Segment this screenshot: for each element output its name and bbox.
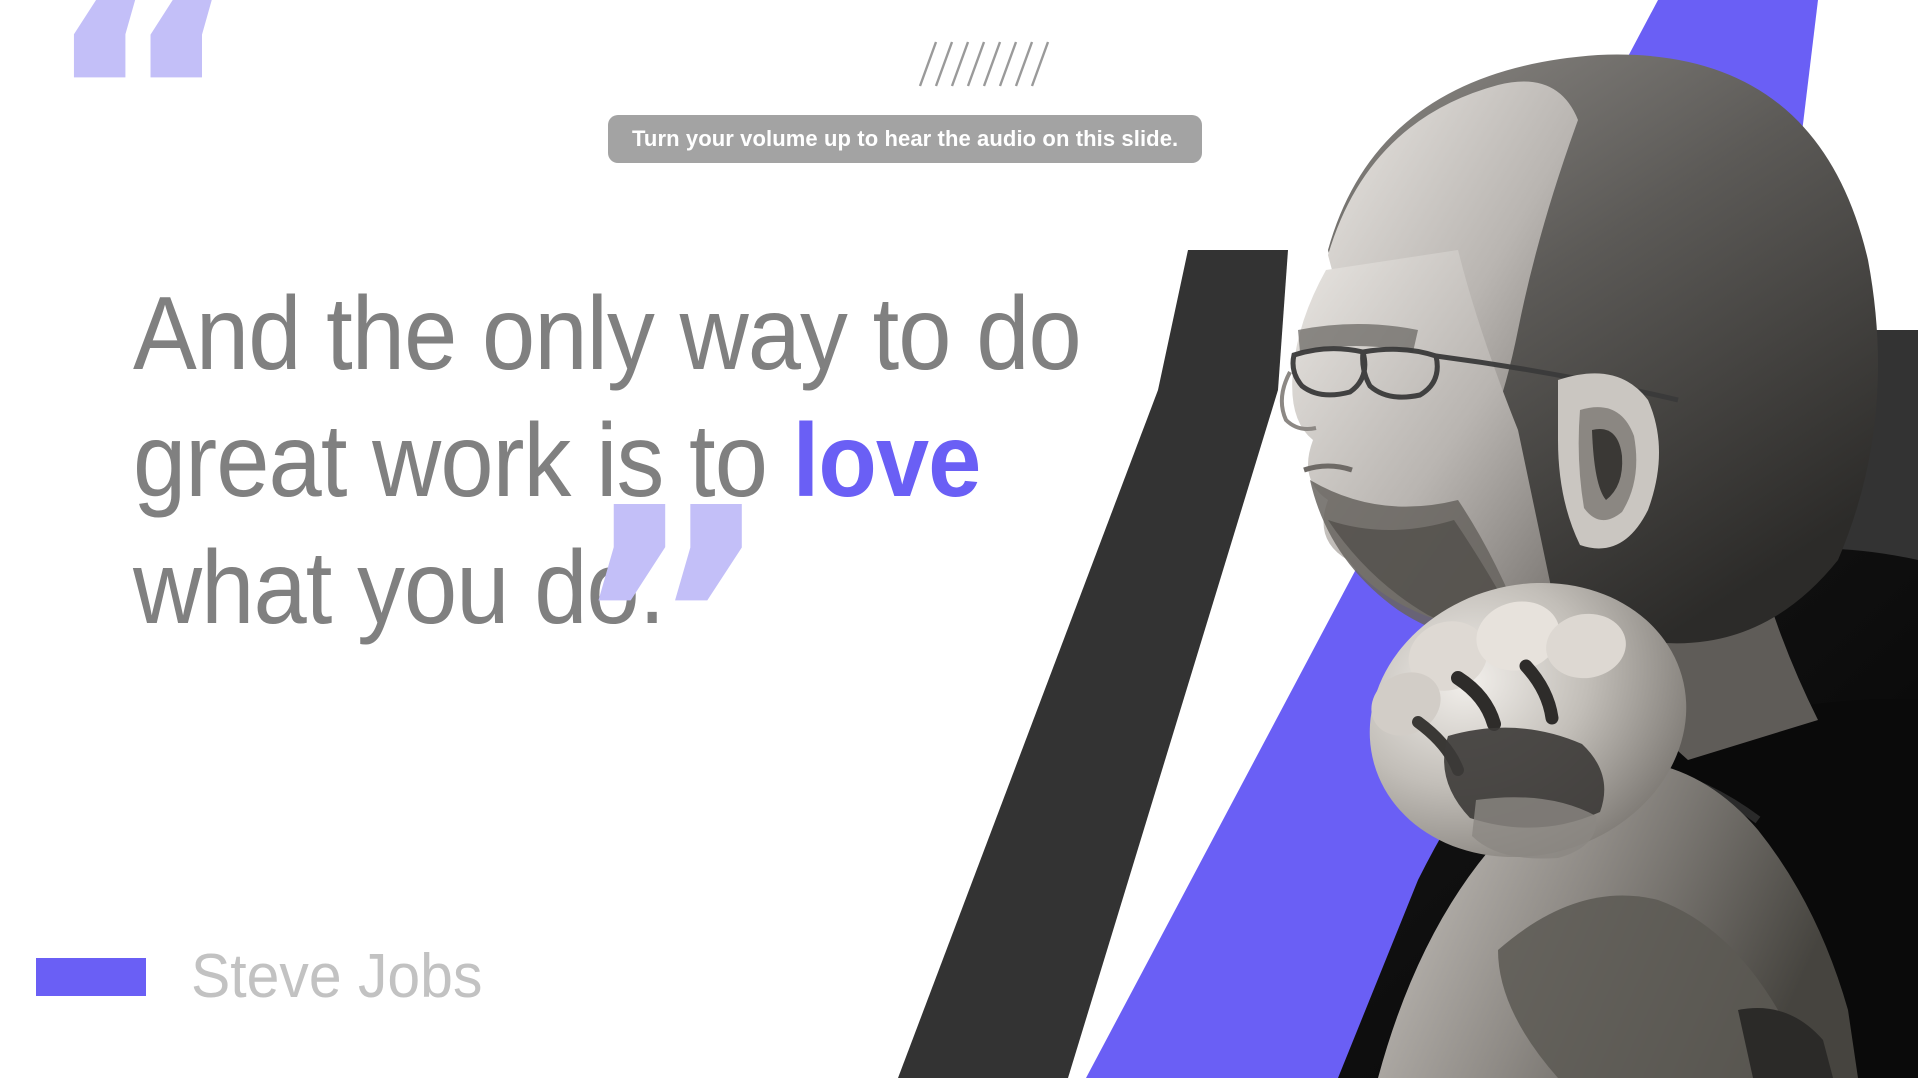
quote-line-3: what you do. — [133, 536, 979, 640]
attribution-name: Steve Jobs — [191, 941, 482, 1012]
attribution-accent-bar — [36, 958, 146, 996]
open-quote-icon: “ — [42, 0, 246, 256]
quote-highlight-word: love — [793, 403, 981, 519]
quote-slide: “ Turn your volume up to hear the audio … — [0, 0, 1918, 1078]
close-quote-icon: ” — [570, 469, 774, 779]
attribution: Steve Jobs — [36, 941, 498, 1012]
audio-notice-banner: Turn your volume up to hear the audio on… — [608, 115, 1202, 163]
hatch-lines-icon — [912, 36, 1052, 92]
quote-line-1: And the only way to do — [133, 282, 979, 386]
quote-line-2: great work is to love — [133, 409, 979, 513]
audio-notice-text: Turn your volume up to hear the audio on… — [632, 126, 1178, 152]
quote-line-1-text: And the only way to do — [133, 276, 1081, 392]
